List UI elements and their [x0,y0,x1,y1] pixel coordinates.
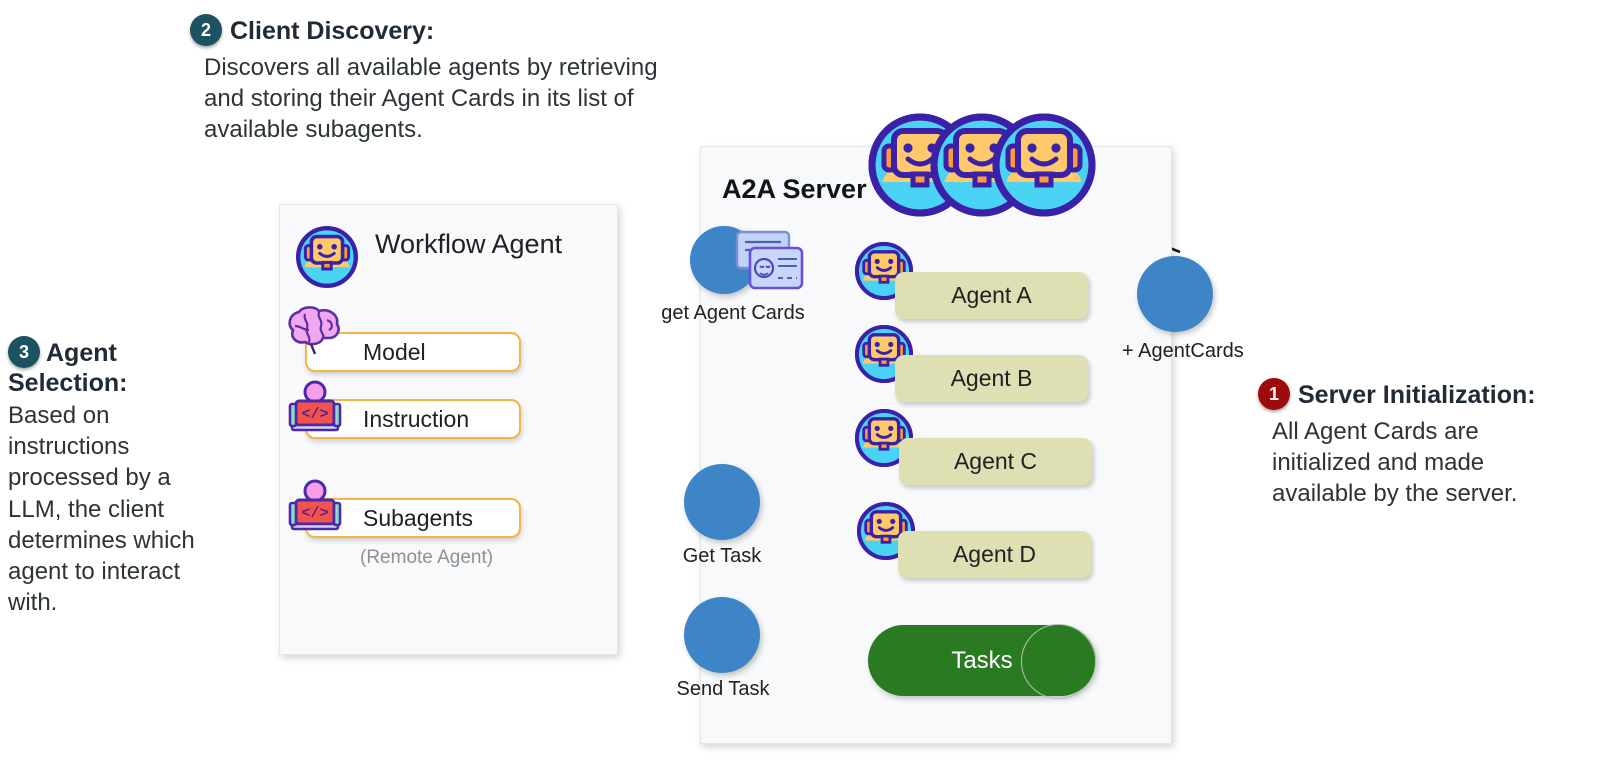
note-line: with. [8,587,266,618]
note-line: instructions [8,431,266,462]
note-badge-3: 3 [8,336,40,368]
note-line: initialized and made [1272,447,1598,478]
note-line: available subagents. [204,114,750,145]
code-laptop-icon: </> [287,380,343,436]
note-agent-selection: 3 Agent Selection: Based on instructions… [8,336,266,618]
workflow-agent-title: Workflow Agent [375,229,562,260]
workflow-agent-robot-icon [294,224,360,290]
agentcards-registry-circle[interactable] [1137,256,1213,332]
note-line: processed by a [8,462,266,493]
note-title-agent-selection: Agent [46,339,117,369]
workflow-subagents-caption: (Remote Agent) [360,547,493,569]
workflow-row-model-label: Model [363,339,426,366]
svg-text:</>: </> [301,406,328,423]
tasks-ring-overlay [1021,624,1096,699]
note-line: available by the server. [1272,478,1598,509]
note-title-agent-selection-2: Selection: [8,369,266,399]
agent-card-c[interactable]: Agent C [899,438,1092,485]
note-badge-2: 2 [190,14,222,46]
workflow-row-subagents-label: Subagents [363,505,473,532]
note-line: and storing their Agent Cards in its lis… [204,83,750,114]
agentcards-registry-label: + AgentCards [1122,340,1244,363]
robot-avatar-icon [996,117,1092,213]
send-task-label: Send Task [660,678,786,701]
note-line: agent to interact [8,556,266,587]
agent-card-a[interactable]: Agent A [895,272,1088,319]
agent-card-b[interactable]: Agent B [895,355,1088,402]
note-title-client-discovery: Client Discovery: [230,17,434,47]
note-body-client-discovery: Discovers all available agents by retrie… [204,52,750,146]
agent-card-d[interactable]: Agent D [898,531,1091,578]
server-robot-avatars [868,110,1148,220]
get-agent-cards-label: get Agent Cards [650,302,816,325]
workflow-row-instruction-label: Instruction [363,406,469,433]
a2a-server-title: A2A Server [722,174,867,205]
send-task-circle[interactable] [684,597,760,673]
note-server-initialization: 1 Server Initialization: All Agent Cards… [1258,378,1598,509]
note-line: determines which [8,525,266,556]
note-line: Discovers all available agents by retrie… [204,52,750,83]
note-title-server-initialization: Server Initialization: [1298,381,1536,411]
note-client-discovery: 2 Client Discovery: Discovers all availa… [190,14,750,145]
get-task-label: Get Task [662,545,782,568]
agent-cards-icon [731,228,807,298]
svg-text:</>: </> [301,505,328,522]
diagram-canvas: 2 Client Discovery: Discovers all availa… [0,0,1600,779]
note-line: LLM, the client [8,494,266,525]
brain-icon [283,304,347,356]
note-badge-1: 1 [1258,378,1290,410]
get-task-circle[interactable] [684,464,760,540]
note-line: Based on [8,400,266,431]
note-line: All Agent Cards are [1272,416,1598,447]
note-body-agent-selection: Based on instructions processed by a LLM… [8,400,266,618]
code-laptop-icon: </> [287,479,343,535]
note-body-server-initialization: All Agent Cards are initialized and made… [1272,416,1598,510]
